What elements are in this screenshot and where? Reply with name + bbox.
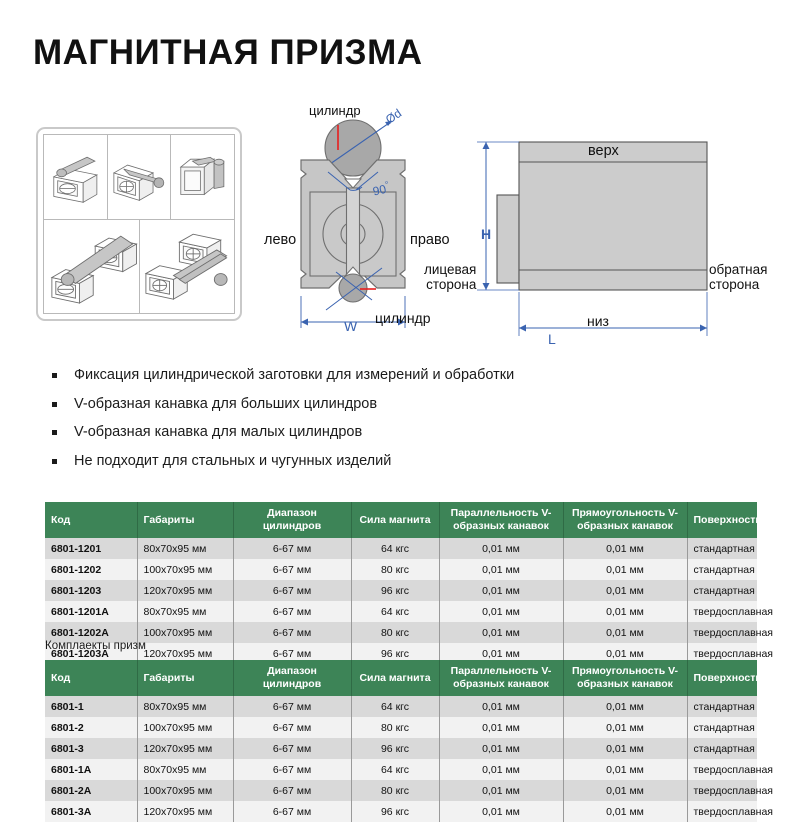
cell-magnet-force: 80 кгс (351, 622, 439, 643)
sets-table-caption: Комплаекты призм (45, 640, 146, 652)
front-view-diagram (250, 100, 465, 350)
cell-surface: твердосплавная (687, 780, 757, 801)
cell-cylinder-range: 6-67 мм (233, 696, 351, 717)
col-header-magnet-force-text: Сила магнита (359, 514, 430, 526)
sets-col-header-code-text: Код (51, 672, 70, 684)
table-row: 6801-1201 80х70х95 мм 6-67 мм 64 кгс 0,0… (45, 538, 757, 559)
sets-col-header-cylinder-range-text: Диапазон цилиндров (263, 665, 321, 690)
spec-table: Код Габариты Диапазон цилиндров Сила маг… (45, 502, 757, 664)
cell-code: 6801-3A (45, 801, 137, 822)
side-view-diagram (455, 130, 785, 345)
table-row: 6801-2 100х70х95 мм 6-67 мм 80 кгс 0,01 … (45, 717, 757, 738)
sets-table-head: Код Габариты Диапазон цилиндров Сила маг… (45, 660, 757, 696)
sets-col-header-code: Код (45, 660, 137, 696)
table-row: 6801-3A 120х70х95 мм 6-67 мм 96 кгс 0,01… (45, 801, 757, 822)
side-view-block (519, 142, 707, 290)
col-header-parallelism: Параллельность V- образных канавок (439, 502, 563, 538)
cell-cylinder-range: 6-67 мм (233, 717, 351, 738)
illustration-panel-2 (108, 135, 172, 219)
cell-squareness: 0,01 мм (563, 759, 687, 780)
cell-squareness: 0,01 мм (563, 696, 687, 717)
cell-dimensions: 80х70х95 мм (137, 696, 233, 717)
illustration-panel-5 (140, 220, 235, 313)
cell-code: 6801-1201A (45, 601, 137, 622)
cell-parallelism: 0,01 мм (439, 801, 563, 822)
cell-code: 6801-3 (45, 738, 137, 759)
illustration-panel-1 (44, 135, 108, 219)
cell-parallelism: 0,01 мм (439, 780, 563, 801)
cell-surface: стандартная (687, 580, 757, 601)
feature-item: V-образная канавка для больших цилиндров (52, 395, 572, 415)
illustration-panel-4 (44, 220, 140, 313)
feature-text: Фиксация цилиндрической заготовки для из… (74, 366, 514, 386)
col-header-squareness-line1: Прямоугольность V- (570, 507, 681, 520)
cell-surface: стандартная (687, 738, 757, 759)
cell-magnet-force: 80 кгс (351, 559, 439, 580)
cell-dimensions: 80х70х95 мм (137, 759, 233, 780)
col-header-dimensions: Габариты (137, 502, 233, 538)
spec-table-main: Код Габариты Диапазон цилиндров Сила маг… (45, 502, 757, 664)
cell-surface: твердосплавная (687, 759, 757, 780)
cell-cylinder-range: 6-67 мм (233, 601, 351, 622)
sets-col-header-cylinder-range: Диапазон цилиндров (233, 660, 351, 696)
cell-dimensions: 120х70х95 мм (137, 580, 233, 601)
cell-parallelism: 0,01 мм (439, 759, 563, 780)
cell-parallelism: 0,01 мм (439, 717, 563, 738)
table-head: Код Габариты Диапазон цилиндров Сила маг… (45, 502, 757, 538)
sets-col-header-magnet-force-text: Сила магнита (359, 672, 430, 684)
cell-magnet-force: 96 кгс (351, 738, 439, 759)
illustration-row-top (44, 135, 234, 220)
label-front-side: лицевая сторона (424, 262, 476, 292)
cell-cylinder-range: 6-67 мм (233, 759, 351, 780)
label-left: лево (264, 232, 296, 248)
col-header-squareness: Прямоугольность V- образных канавок (563, 502, 687, 538)
side-view-tab (497, 195, 519, 283)
feature-text: V-образная канавка для больших цилиндров (74, 395, 377, 415)
sets-col-header-dimensions-text: Габариты (144, 672, 195, 684)
sets-col-header-parallelism-line2: образных канавок (446, 678, 557, 691)
table-row: 6801-1201A 80х70х95 мм 6-67 мм 64 кгс 0,… (45, 601, 757, 622)
cell-code: 6801-1A (45, 759, 137, 780)
col-header-dimensions-text: Габариты (144, 514, 195, 526)
cell-magnet-force: 80 кгс (351, 717, 439, 738)
cell-squareness: 0,01 мм (563, 738, 687, 759)
cell-magnet-force: 64 кгс (351, 601, 439, 622)
cell-squareness: 0,01 мм (563, 717, 687, 738)
cell-parallelism: 0,01 мм (439, 559, 563, 580)
illustration-row-bottom (44, 220, 234, 313)
cell-parallelism: 0,01 мм (439, 738, 563, 759)
cell-surface: стандартная (687, 538, 757, 559)
cell-dimensions: 80х70х95 мм (137, 601, 233, 622)
cell-cylinder-range: 6-67 мм (233, 538, 351, 559)
sets-col-header-surface-text: Поверхность (694, 672, 762, 684)
cell-parallelism: 0,01 мм (439, 622, 563, 643)
sets-table-body: 6801-1 80х70х95 мм 6-67 мм 64 кгс 0,01 м… (45, 696, 757, 822)
cell-squareness: 0,01 мм (563, 538, 687, 559)
cell-squareness: 0,01 мм (563, 559, 687, 580)
illustration-grid (43, 134, 235, 314)
cell-magnet-force: 96 кгс (351, 580, 439, 601)
col-header-surface-text: Поверхность (694, 514, 762, 526)
cell-surface: твердосплавная (687, 622, 757, 643)
table-row: 6801-1A 80х70х95 мм 6-67 мм 64 кгс 0,01 … (45, 759, 757, 780)
cell-cylinder-range: 6-67 мм (233, 559, 351, 580)
cell-parallelism: 0,01 мм (439, 696, 563, 717)
table-row: 6801-1203 120х70х95 мм 6-67 мм 96 кгс 0,… (45, 580, 757, 601)
cell-parallelism: 0,01 мм (439, 601, 563, 622)
sets-col-header-magnet-force: Сила магнита (351, 660, 439, 696)
feature-item: Фиксация цилиндрической заготовки для из… (52, 366, 572, 386)
sets-col-header-dimensions: Габариты (137, 660, 233, 696)
sets-col-header-squareness-line2: образных канавок (570, 678, 681, 691)
product-illustration-card (36, 127, 242, 321)
bullet-square-icon (52, 373, 57, 378)
cell-magnet-force: 96 кгс (351, 801, 439, 822)
spec-table-sets: Код Габариты Диапазон цилиндров Сила маг… (45, 660, 757, 822)
col-header-parallelism-line1: Параллельность V- (446, 507, 557, 520)
table-row: 6801-3 120х70х95 мм 6-67 мм 96 кгс 0,01 … (45, 738, 757, 759)
cell-squareness: 0,01 мм (563, 580, 687, 601)
sets-col-header-parallelism: Параллельность V- образных канавок (439, 660, 563, 696)
bullet-square-icon (52, 459, 57, 464)
table-row: 6801-1 80х70х95 мм 6-67 мм 64 кгс 0,01 м… (45, 696, 757, 717)
cell-squareness: 0,01 мм (563, 780, 687, 801)
cell-squareness: 0,01 мм (563, 601, 687, 622)
col-header-cylinder-range-text: Диапазон цилиндров (263, 507, 321, 532)
sets-col-header-parallelism-line1: Параллельность V- (446, 665, 557, 678)
cell-parallelism: 0,01 мм (439, 580, 563, 601)
cell-dimensions: 80х70х95 мм (137, 538, 233, 559)
col-header-parallelism-line2: образных канавок (446, 520, 557, 533)
col-header-code: Код (45, 502, 137, 538)
cell-dimensions: 100х70х95 мм (137, 780, 233, 801)
label-front-side-line1: лицевая (424, 262, 476, 277)
cell-surface: стандартная (687, 696, 757, 717)
cell-surface: стандартная (687, 717, 757, 738)
col-header-code-text: Код (51, 514, 70, 526)
illustration-panel-3 (171, 135, 234, 219)
magnet-switch-slot (347, 188, 360, 280)
sets-col-header-squareness: Прямоугольность V- образных канавок (563, 660, 687, 696)
sets-table: Код Габариты Диапазон цилиндров Сила маг… (45, 660, 757, 822)
label-back-side-line1: обратная (709, 262, 767, 277)
feature-list: Фиксация цилиндрической заготовки для из… (52, 366, 572, 480)
cell-parallelism: 0,01 мм (439, 538, 563, 559)
cell-cylinder-range: 6-67 мм (233, 780, 351, 801)
cell-magnet-force: 64 кгс (351, 538, 439, 559)
cell-cylinder-range: 6-67 мм (233, 580, 351, 601)
feature-item: V-образная канавка для малых цилиндров (52, 423, 572, 443)
cell-code: 6801-1 (45, 696, 137, 717)
feature-text: Не подходит для стальных и чугунных изде… (74, 452, 391, 472)
label-right: право (410, 232, 450, 248)
label-bottom: низ (587, 313, 609, 329)
col-header-magnet-force: Сила магнита (351, 502, 439, 538)
page-title: МАГНИТНАЯ ПРИЗМА (33, 33, 423, 73)
table-header-row: Код Габариты Диапазон цилиндров Сила маг… (45, 502, 757, 538)
label-top: верх (588, 143, 619, 159)
col-header-cylinder-range: Диапазон цилиндров (233, 502, 351, 538)
label-cylinder-top: цилиндр (309, 103, 361, 118)
cell-cylinder-range: 6-67 мм (233, 738, 351, 759)
col-header-squareness-line2: образных канавок (570, 520, 681, 533)
sets-table-header-row: Код Габариты Диапазон цилиндров Сила маг… (45, 660, 757, 696)
cell-surface: твердосплавная (687, 801, 757, 822)
sets-col-header-surface: Поверхность (687, 660, 757, 696)
table-row: 6801-1202 100х70х95 мм 6-67 мм 80 кгс 0,… (45, 559, 757, 580)
cell-code: 6801-1201 (45, 538, 137, 559)
cell-squareness: 0,01 мм (563, 801, 687, 822)
cell-code: 6801-1202 (45, 559, 137, 580)
cell-magnet-force: 64 кгс (351, 696, 439, 717)
cell-surface: стандартная (687, 559, 757, 580)
cell-cylinder-range: 6-67 мм (233, 622, 351, 643)
label-height: H (481, 226, 491, 242)
table-row: 6801-1202A 100х70х95 мм 6-67 мм 80 кгс 0… (45, 622, 757, 643)
label-cylinder-bottom: цилиндр (375, 310, 431, 326)
cell-code: 6801-2A (45, 780, 137, 801)
label-back-side: обратная сторона (709, 262, 767, 292)
cell-code: 6801-2 (45, 717, 137, 738)
cell-dimensions: 120х70х95 мм (137, 738, 233, 759)
cell-magnet-force: 64 кгс (351, 759, 439, 780)
bullet-square-icon (52, 430, 57, 435)
label-front-side-line2: сторона (424, 277, 476, 292)
sets-col-header-squareness-line1: Прямоугольность V- (570, 665, 681, 678)
feature-item: Не подходит для стальных и чугунных изде… (52, 452, 572, 472)
cell-dimensions: 100х70х95 мм (137, 622, 233, 643)
cell-dimensions: 100х70х95 мм (137, 717, 233, 738)
cell-surface: твердосплавная (687, 601, 757, 622)
feature-text: V-образная канавка для малых цилиндров (74, 423, 362, 443)
cell-dimensions: 120х70х95 мм (137, 801, 233, 822)
cell-squareness: 0,01 мм (563, 622, 687, 643)
bullet-square-icon (52, 402, 57, 407)
cell-code: 6801-1203 (45, 580, 137, 601)
cell-cylinder-range: 6-67 мм (233, 801, 351, 822)
label-length: L (548, 331, 556, 347)
col-header-surface: Поверхность (687, 502, 757, 538)
label-width: W (344, 318, 357, 334)
table-body: 6801-1201 80х70х95 мм 6-67 мм 64 кгс 0,0… (45, 538, 757, 664)
cell-magnet-force: 80 кгс (351, 780, 439, 801)
table-row: 6801-2A 100х70х95 мм 6-67 мм 80 кгс 0,01… (45, 780, 757, 801)
label-back-side-line2: сторона (709, 277, 767, 292)
cell-dimensions: 100х70х95 мм (137, 559, 233, 580)
